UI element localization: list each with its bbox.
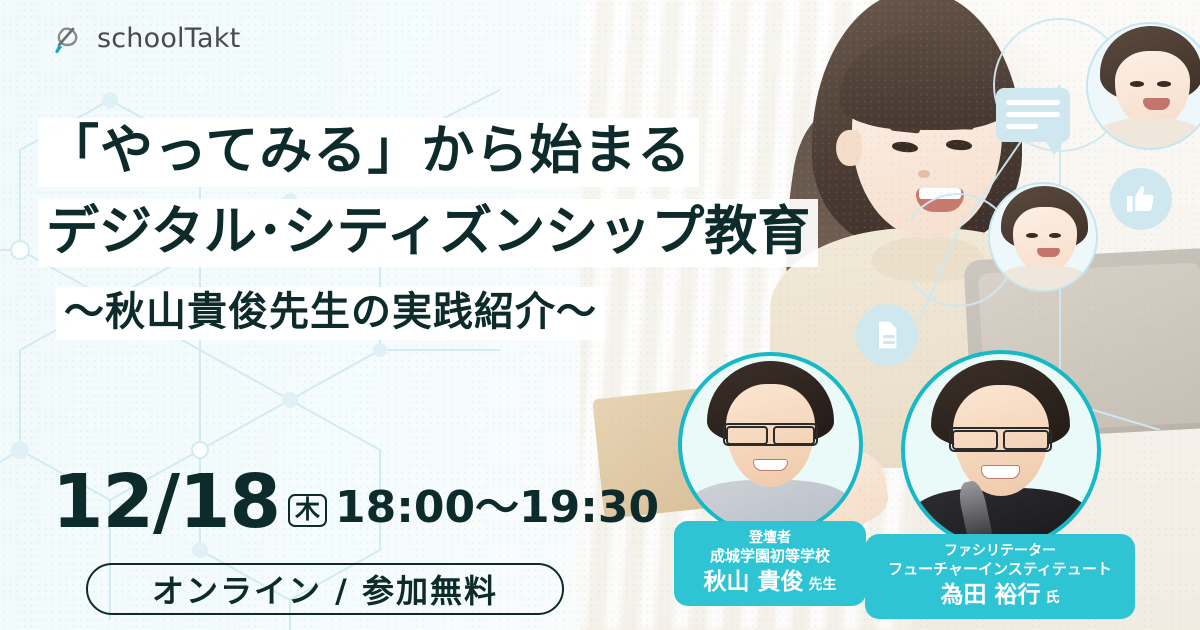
speaker-2-name: 為田 裕行 xyxy=(940,582,1040,608)
speaker-1-honorific: 先生 xyxy=(809,577,837,593)
speaker-2-org: フューチャーインスティテュート xyxy=(871,560,1129,580)
logo-text: schoolTakt xyxy=(97,23,240,54)
speaker-1-role: 登壇者 xyxy=(680,529,860,547)
event-time: 18:00〜19:30 xyxy=(335,486,659,530)
student-avatar-2 xyxy=(988,182,1098,292)
speaker-2-role: ファシリテーター xyxy=(871,542,1129,560)
headline-line-2: デジタル･シティズンシップ教育 xyxy=(38,199,818,268)
schedule-row: 12/18 木 18:00〜19:30 xyxy=(52,468,659,536)
format-price-badge: オンライン / 参加無料 xyxy=(86,563,564,615)
speaker-1-photo xyxy=(678,352,863,537)
headline-line-1: 「やってみる」から始まる xyxy=(38,118,699,187)
webinar-banner: schoolTakt 「やってみる」から始まる デジタル･シティズンシップ教育 … xyxy=(0,0,1200,630)
speaker-1-tag: 登壇者 成城学園初等学校 秋山 貴俊先生 xyxy=(674,521,866,606)
speaker-1-name: 秋山 貴俊 xyxy=(703,569,803,595)
headline-block: 「やってみる」から始まる デジタル･シティズンシップ教育 〜秋山貴俊先生の実践紹… xyxy=(38,118,818,340)
headline-subtitle: 〜秋山貴俊先生の実践紹介〜 xyxy=(56,287,605,340)
student-avatar-1 xyxy=(1086,22,1200,150)
brand-logo[interactable]: schoolTakt xyxy=(48,18,240,58)
speaker-2-honorific: 氏 xyxy=(1046,590,1060,606)
speaker-2-photo xyxy=(901,350,1101,550)
baton-logo-icon xyxy=(48,18,88,58)
speaker-2-tag: ファシリテーター フューチャーインスティテュート 為田 裕行氏 xyxy=(865,534,1135,619)
speaker-card-2: ファシリテーター フューチャーインスティテュート 為田 裕行氏 xyxy=(898,350,1103,619)
thumbs-up-icon xyxy=(1110,168,1172,230)
speaker-card-1: 登壇者 成城学園初等学校 秋山 貴俊先生 xyxy=(668,352,873,606)
chat-bubble-icon xyxy=(996,88,1070,142)
speaker-1-org: 成城学園初等学校 xyxy=(680,547,860,567)
event-date: 12/18 xyxy=(52,468,280,536)
event-day-of-week: 木 xyxy=(288,494,327,527)
